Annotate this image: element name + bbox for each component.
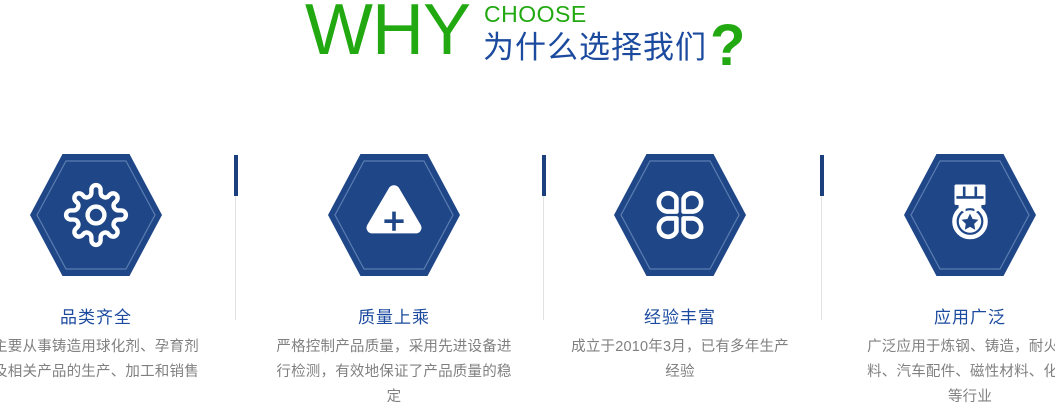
- card-title: 品类齐全: [0, 307, 228, 329]
- four-petal-clover-icon: [613, 153, 747, 277]
- feature-card[interactable]: 应用广泛 广泛应用于炼钢、铸造，耐火材料、汽车配件、磁性材料、化工等行业: [838, 95, 1055, 416]
- card-description: 成立于2010年3月，已有多年生产经验: [548, 335, 812, 385]
- card-description: 主要从事铸造用球化剂、孕育剂及相关产品的生产、加工和销售: [0, 335, 228, 385]
- medal-icon: [903, 153, 1037, 277]
- card-description: 广泛应用于炼钢、铸造，耐火材料、汽车配件、磁性材料、化工等行业: [838, 335, 1055, 410]
- card-description: 严格控制产品质量，采用先进设备进行检测，有效地保证了产品质量的稳定: [262, 335, 526, 410]
- section-header: WHY CHOOSE 为什么选择我们 ?: [0, 0, 1055, 95]
- header-inner: WHY CHOOSE 为什么选择我们 ?: [305, 0, 775, 95]
- triangle-plus-icon: [327, 153, 461, 277]
- gear-icon: [29, 153, 163, 277]
- card-title: 质量上乘: [262, 307, 526, 329]
- question-mark-icon: ?: [710, 17, 745, 75]
- hexagon-badge: [903, 153, 1037, 277]
- feature-cards: 品类齐全 主要从事铸造用球化剂、孕育剂及相关产品的生产、加工和销售 质量上乘 严…: [0, 95, 1055, 416]
- heading-choose: CHOOSE: [484, 3, 587, 26]
- card-title: 经验丰富: [548, 307, 812, 329]
- hexagon-badge: [29, 153, 163, 277]
- feature-card[interactable]: 质量上乘 严格控制产品质量，采用先进设备进行检测，有效地保证了产品质量的稳定: [262, 95, 526, 416]
- hexagon-badge: [613, 153, 747, 277]
- feature-card[interactable]: 经验丰富 成立于2010年3月，已有多年生产经验: [548, 95, 812, 416]
- heading-why: WHY: [305, 0, 470, 66]
- card-title: 应用广泛: [838, 307, 1055, 329]
- hexagon-badge: [327, 153, 461, 277]
- heading-chinese: 为什么选择我们: [483, 31, 707, 65]
- feature-card[interactable]: 品类齐全 主要从事铸造用球化剂、孕育剂及相关产品的生产、加工和销售: [0, 95, 228, 416]
